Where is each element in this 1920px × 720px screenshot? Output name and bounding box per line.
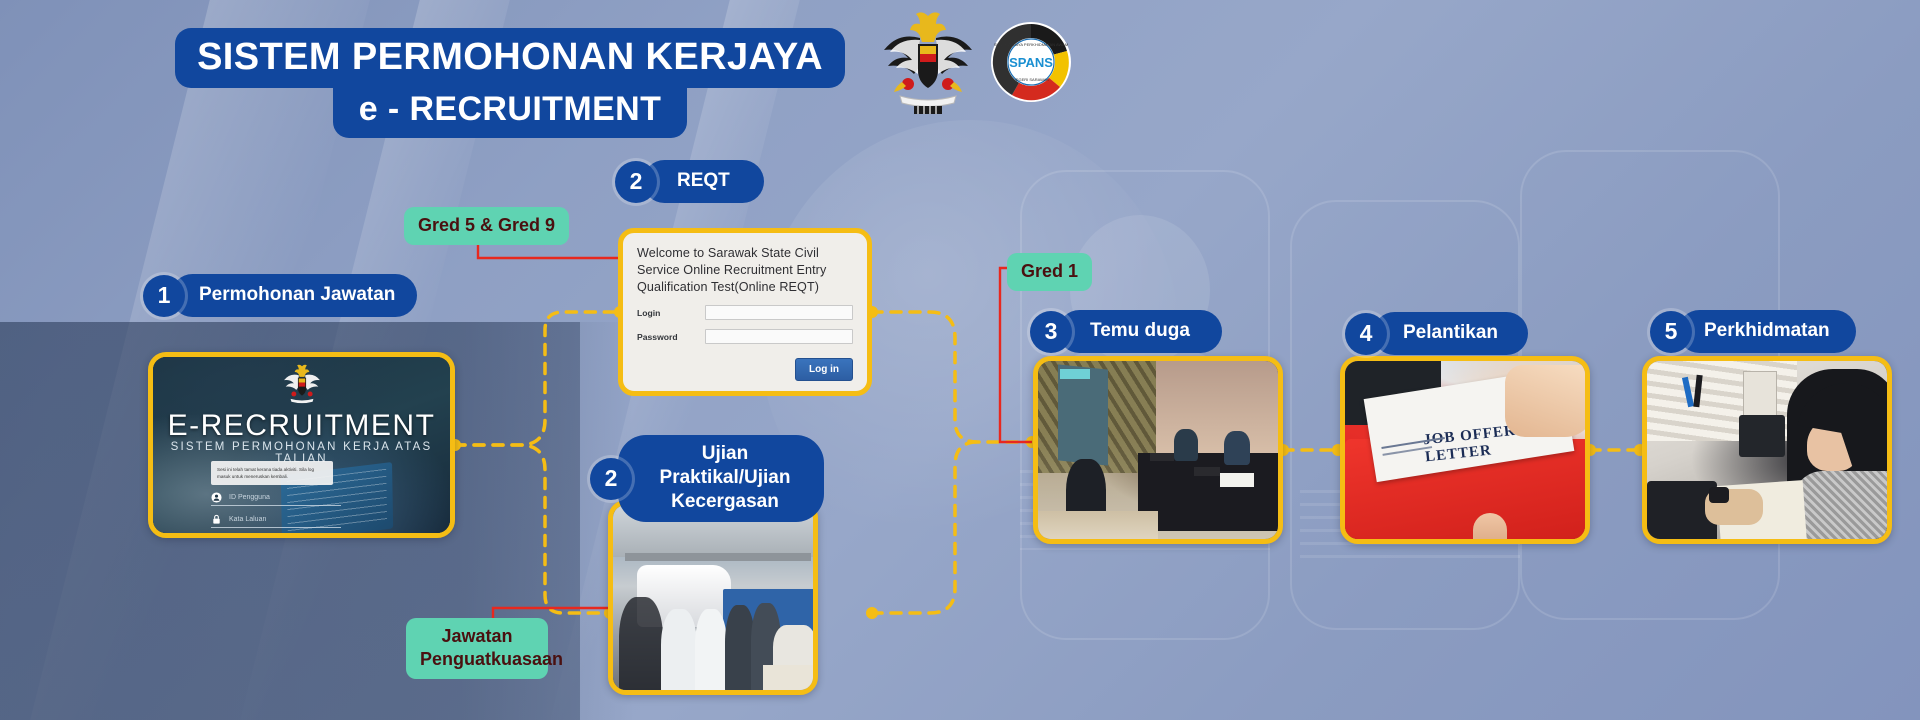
table-surface [763,665,818,695]
reqt-login-panel[interactable]: Welcome to Sarawak State Civil Service O… [618,228,872,396]
workshop-beam [625,553,811,561]
header-title: SISTEM PERMOHONAN KERJAYA e - RECRUITMEN… [160,28,860,138]
user-id-placeholder: ID Pengguna [229,494,270,501]
floor [1038,511,1158,544]
step-label: Ujian Praktikal/Ujian Kecergasan [618,435,824,522]
svg-text:NEGERI SARAWAK: NEGERI SARAWAK [1013,77,1049,82]
step-label: REQT [643,160,764,203]
title-line-1: SISTEM PERMOHONAN KERJAYA [175,28,845,88]
step-number-badge: 2 [590,458,632,500]
panelist-silhouette [1224,431,1250,465]
tag-gred1: Gred 1 [1007,253,1092,291]
infographic-canvas: SISTEM PERMOHONAN KERJAYA e - RECRUITMEN… [0,0,1920,720]
svg-text:SURUHANJAYA PERKHIDMATAN AWAM: SURUHANJAYA PERKHIDMATAN AWAM [994,42,1068,47]
spans-logo-icon: SPANS SURUHANJAYA PERKHIDMATAN AWAM NEGE… [990,21,1072,103]
flipchart [1058,364,1108,465]
tag-jawatan-penguatkuasaan: Jawatan Penguatkuasaan [406,618,548,679]
step-pill-permohonan-jawatan[interactable]: 1 Permohonan Jawatan [143,274,417,317]
person-silhouette [695,609,727,695]
card-e-recruitment[interactable]: E-RECRUITMENT SISTEM PERMOHONAN KERJA AT… [148,352,455,538]
spans-logo-text: SPANS [1009,55,1053,70]
reqt-welcome-heading: Welcome to Sarawak State Civil Service O… [637,245,853,296]
step-pill-temu-duga[interactable]: 3 Temu duga [1030,310,1222,353]
step-number-badge: 1 [143,275,185,317]
user-id-field[interactable]: ID Pengguna [211,489,341,506]
step-label: Perkhidmatan [1678,310,1856,353]
e-recruitment-screenshot: E-RECRUITMENT SISTEM PERMOHONAN KERJA AT… [153,357,450,533]
reqt-login-input[interactable] [705,305,853,320]
laptop [1194,467,1220,476]
tag-gred5-gred9: Gred 5 & Gred 9 [404,207,569,245]
reqt-login-row: Login [637,305,853,320]
card-interview[interactable] [1033,356,1283,544]
documents [1220,473,1254,487]
lock-icon [211,514,222,525]
step-number-badge: 2 [615,161,657,203]
reqt-login-label: Login [637,308,705,318]
step-label: Permohonan Jawatan [171,274,417,317]
clothing [1793,471,1892,544]
password-field[interactable]: Kata Laluan [211,511,341,528]
card-service[interactable] [1642,356,1892,544]
laptop [1150,453,1174,461]
hand [1505,365,1590,437]
job-offer-letter-photo: JOB OFFER LETTER [1345,361,1585,539]
reqt-password-input[interactable] [705,329,853,344]
step-number-badge: 5 [1650,311,1692,353]
practical-test-photo [613,505,813,690]
password-placeholder: Kata Laluan [229,516,266,523]
logo-group: SPANS SURUHANJAYA PERKHIDMATAN AWAM NEGE… [880,8,1072,116]
step-number-badge: 4 [1345,313,1387,355]
sarawak-coat-of-arms-icon [880,8,976,116]
title-line-2: e - RECRUITMENT [333,84,688,138]
user-icon [211,492,222,503]
step-pill-ujian-praktikal[interactable]: 2 Ujian Praktikal/Ujian Kecergasan [590,435,824,522]
panel-table [1138,453,1283,531]
step-label: Pelantikan [1373,312,1528,355]
step-pill-pelantikan[interactable]: 4 Pelantikan [1345,312,1528,355]
office-service-photo [1647,361,1887,539]
interview-panel-photo [1038,361,1278,539]
reqt-password-label: Password [637,332,705,342]
card-job-offer[interactable]: JOB OFFER LETTER [1340,356,1590,544]
person-silhouette [661,609,697,695]
reqt-login-button[interactable]: Log in [795,358,853,381]
reqt-footer: Log in [637,358,853,381]
step-pill-perkhidmatan[interactable]: 5 Perkhidmatan [1650,310,1856,353]
calculator [1743,371,1777,417]
panelist-silhouette [1174,429,1198,461]
card-practical-test[interactable] [608,500,818,695]
step-pill-reqt[interactable]: 2 REQT [615,160,764,203]
step-label: Temu duga [1058,310,1222,353]
e-recruitment-title: E-RECRUITMENT [153,409,450,443]
sarawak-coat-of-arms-icon [280,363,324,407]
thumb [1473,513,1507,544]
session-expired-message: Sesi ini telah tamat kerana tiada aktivi… [211,461,333,485]
flipchart-note [1060,369,1090,379]
log-masuk-button[interactable]: Log Masuk [211,533,341,538]
watch [1709,487,1729,503]
person-silhouette [619,597,663,695]
reqt-password-row: Password [637,329,853,344]
step-number-badge: 3 [1030,311,1072,353]
desk-phone [1739,415,1785,457]
